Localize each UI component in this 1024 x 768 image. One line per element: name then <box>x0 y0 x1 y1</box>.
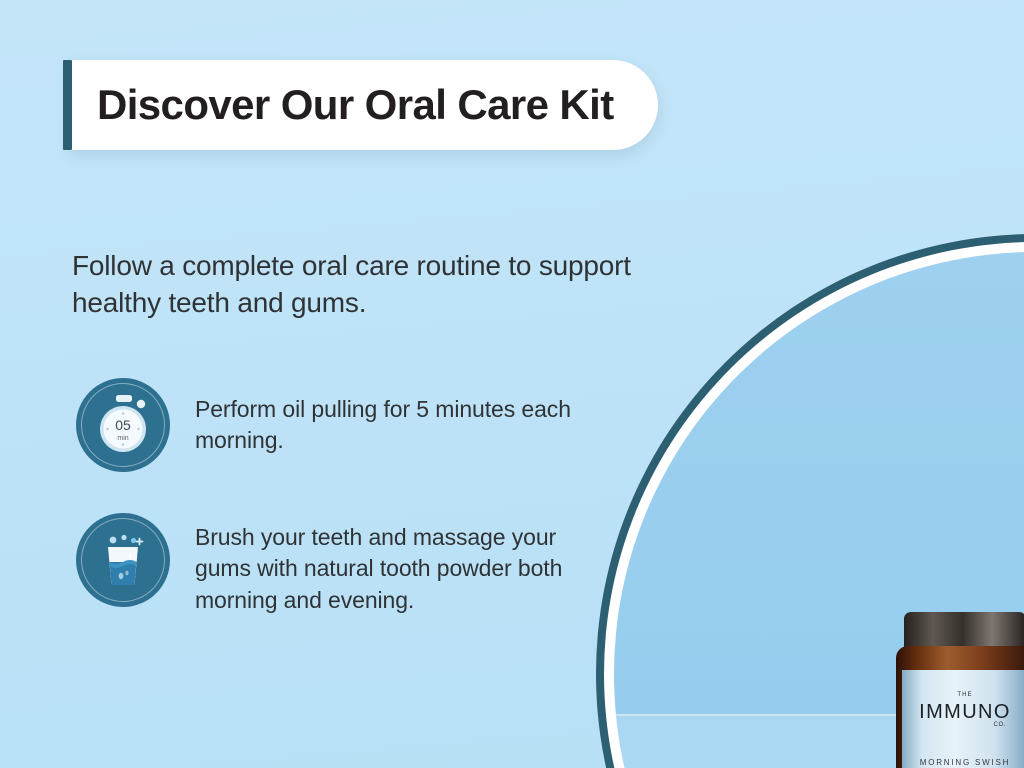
water-glass-glyph <box>76 513 170 607</box>
title-pill: Discover Our Oral Care Kit <box>71 60 658 150</box>
jar-brand-co: CO. <box>994 722 1006 728</box>
page-subtitle: Follow a complete oral care routine to s… <box>72 248 632 322</box>
slide-canvas: Discover Our Oral Care Kit Follow a comp… <box>0 0 1024 768</box>
bullet-text: Perform oil pulling for 5 minutes each m… <box>195 394 596 457</box>
product-photo: THE IMMUNO CO. MORNING SWISH OIL PULLING… <box>614 252 1024 768</box>
bullet-text: Brush your teeth and massage your gums w… <box>195 522 596 616</box>
page-title-block: Discover Our Oral Care Kit <box>63 60 658 150</box>
page-title: Discover Our Oral Care Kit <box>97 84 614 126</box>
title-accent-bar <box>63 60 72 150</box>
product-photo-panel: THE IMMUNO CO. MORNING SWISH OIL PULLING… <box>580 0 1024 768</box>
stopwatch-glyph: 05 min <box>76 378 170 472</box>
bullet-item-oil-pulling: 05 min Perform oil pulling for 5 minutes… <box>76 378 596 472</box>
tooth-powder-jar: THE IMMUNO CO. MORNING SWISH NATURAL TOO… <box>896 612 1024 768</box>
jar-brand-the: THE <box>902 692 1024 698</box>
jar-label: THE IMMUNO CO. MORNING SWISH NATURAL TOO… <box>902 670 1024 768</box>
water-glass-icon <box>76 513 170 607</box>
stopwatch-unit: min <box>117 435 128 442</box>
stopwatch-value: 05 <box>115 417 131 433</box>
bullet-item-brushing: Brush your teeth and massage your gums w… <box>76 513 596 616</box>
jar-brand-name: IMMUNO <box>902 701 1024 724</box>
jar-line-1: MORNING SWISH <box>902 758 1024 767</box>
stopwatch-icon: 05 min <box>76 378 170 472</box>
